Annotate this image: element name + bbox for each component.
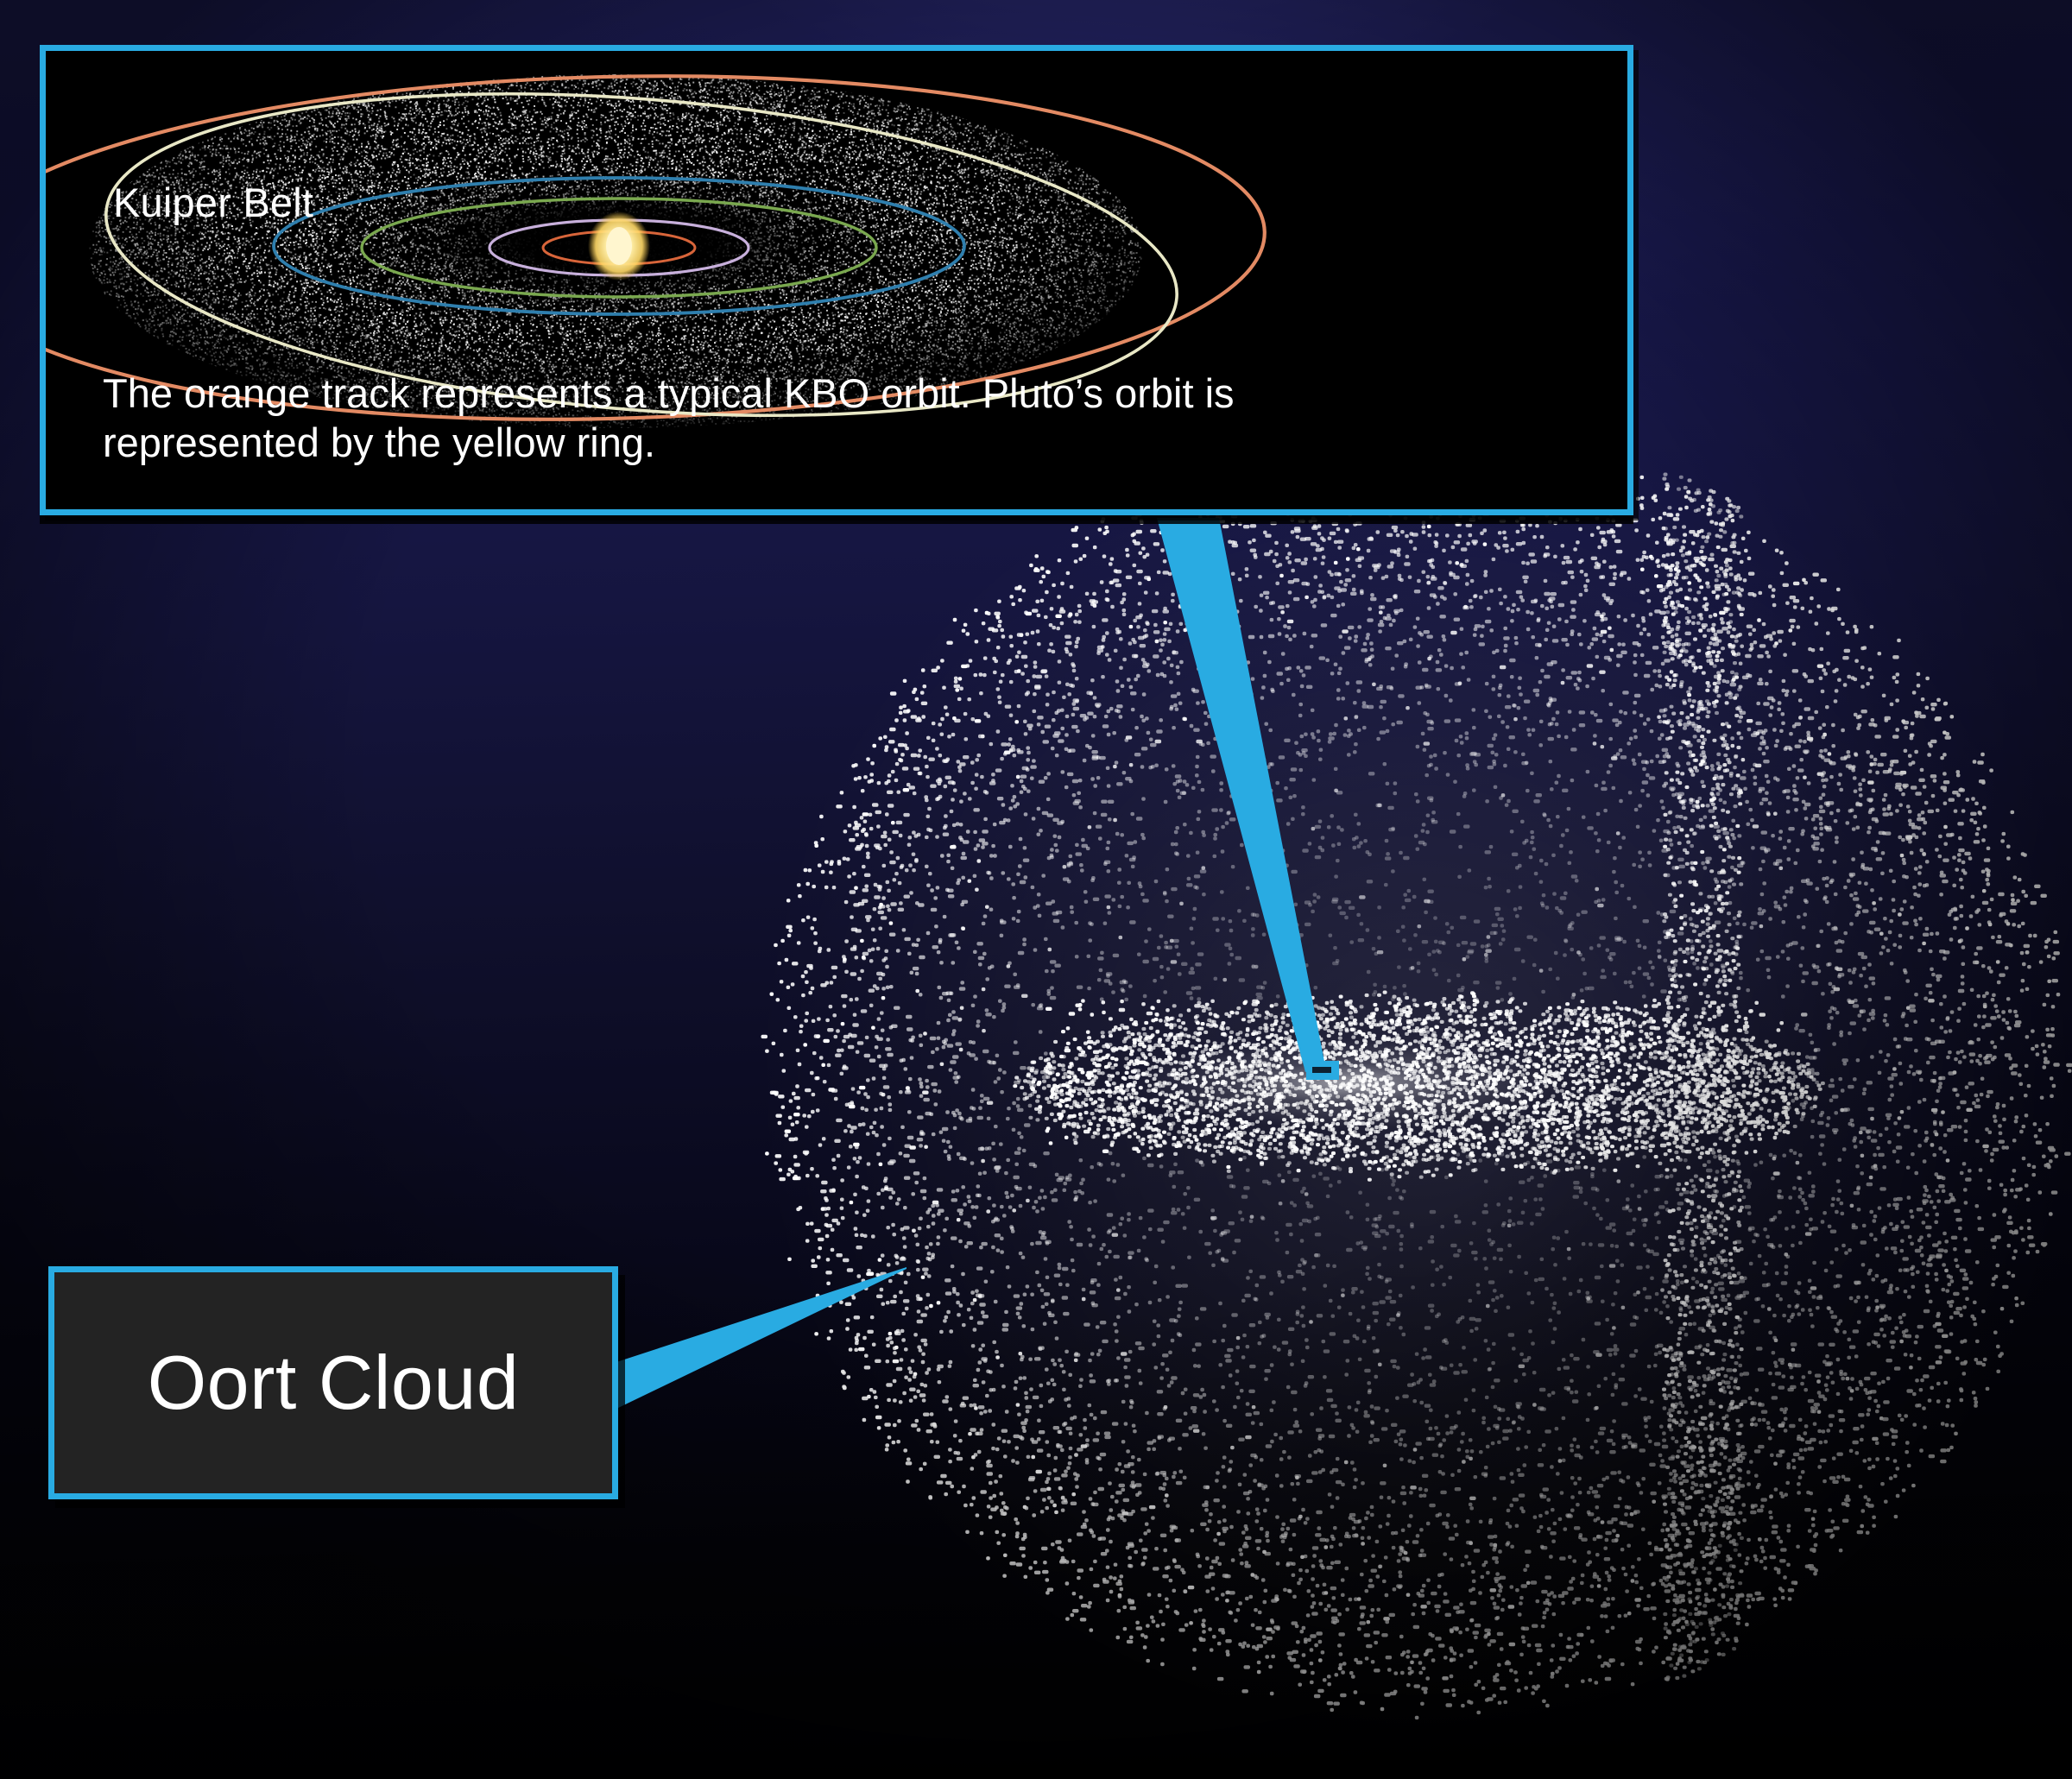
sun <box>606 227 632 265</box>
kuiper-belt-caption: The orange track represents a typical KB… <box>103 369 1570 468</box>
kuiper-belt-inset-panel[interactable]: Kuiper Belt The orange track represents … <box>40 45 1633 515</box>
caption-line-2: represented by the yellow ring. <box>103 418 1570 467</box>
caption-line-1: The orange track represents a typical KB… <box>103 369 1570 418</box>
kuiper-belt-label: Kuiper Belt <box>113 179 313 226</box>
kuiper-belt-scale-marker <box>1306 1061 1339 1080</box>
oort-cloud-label: Oort Cloud <box>148 1339 520 1427</box>
oort-cloud-label-box[interactable]: Oort Cloud <box>48 1266 618 1499</box>
figure-canvas: Kuiper Belt The orange track represents … <box>0 0 2072 1779</box>
oort-cloud-sphere <box>742 393 2072 1779</box>
